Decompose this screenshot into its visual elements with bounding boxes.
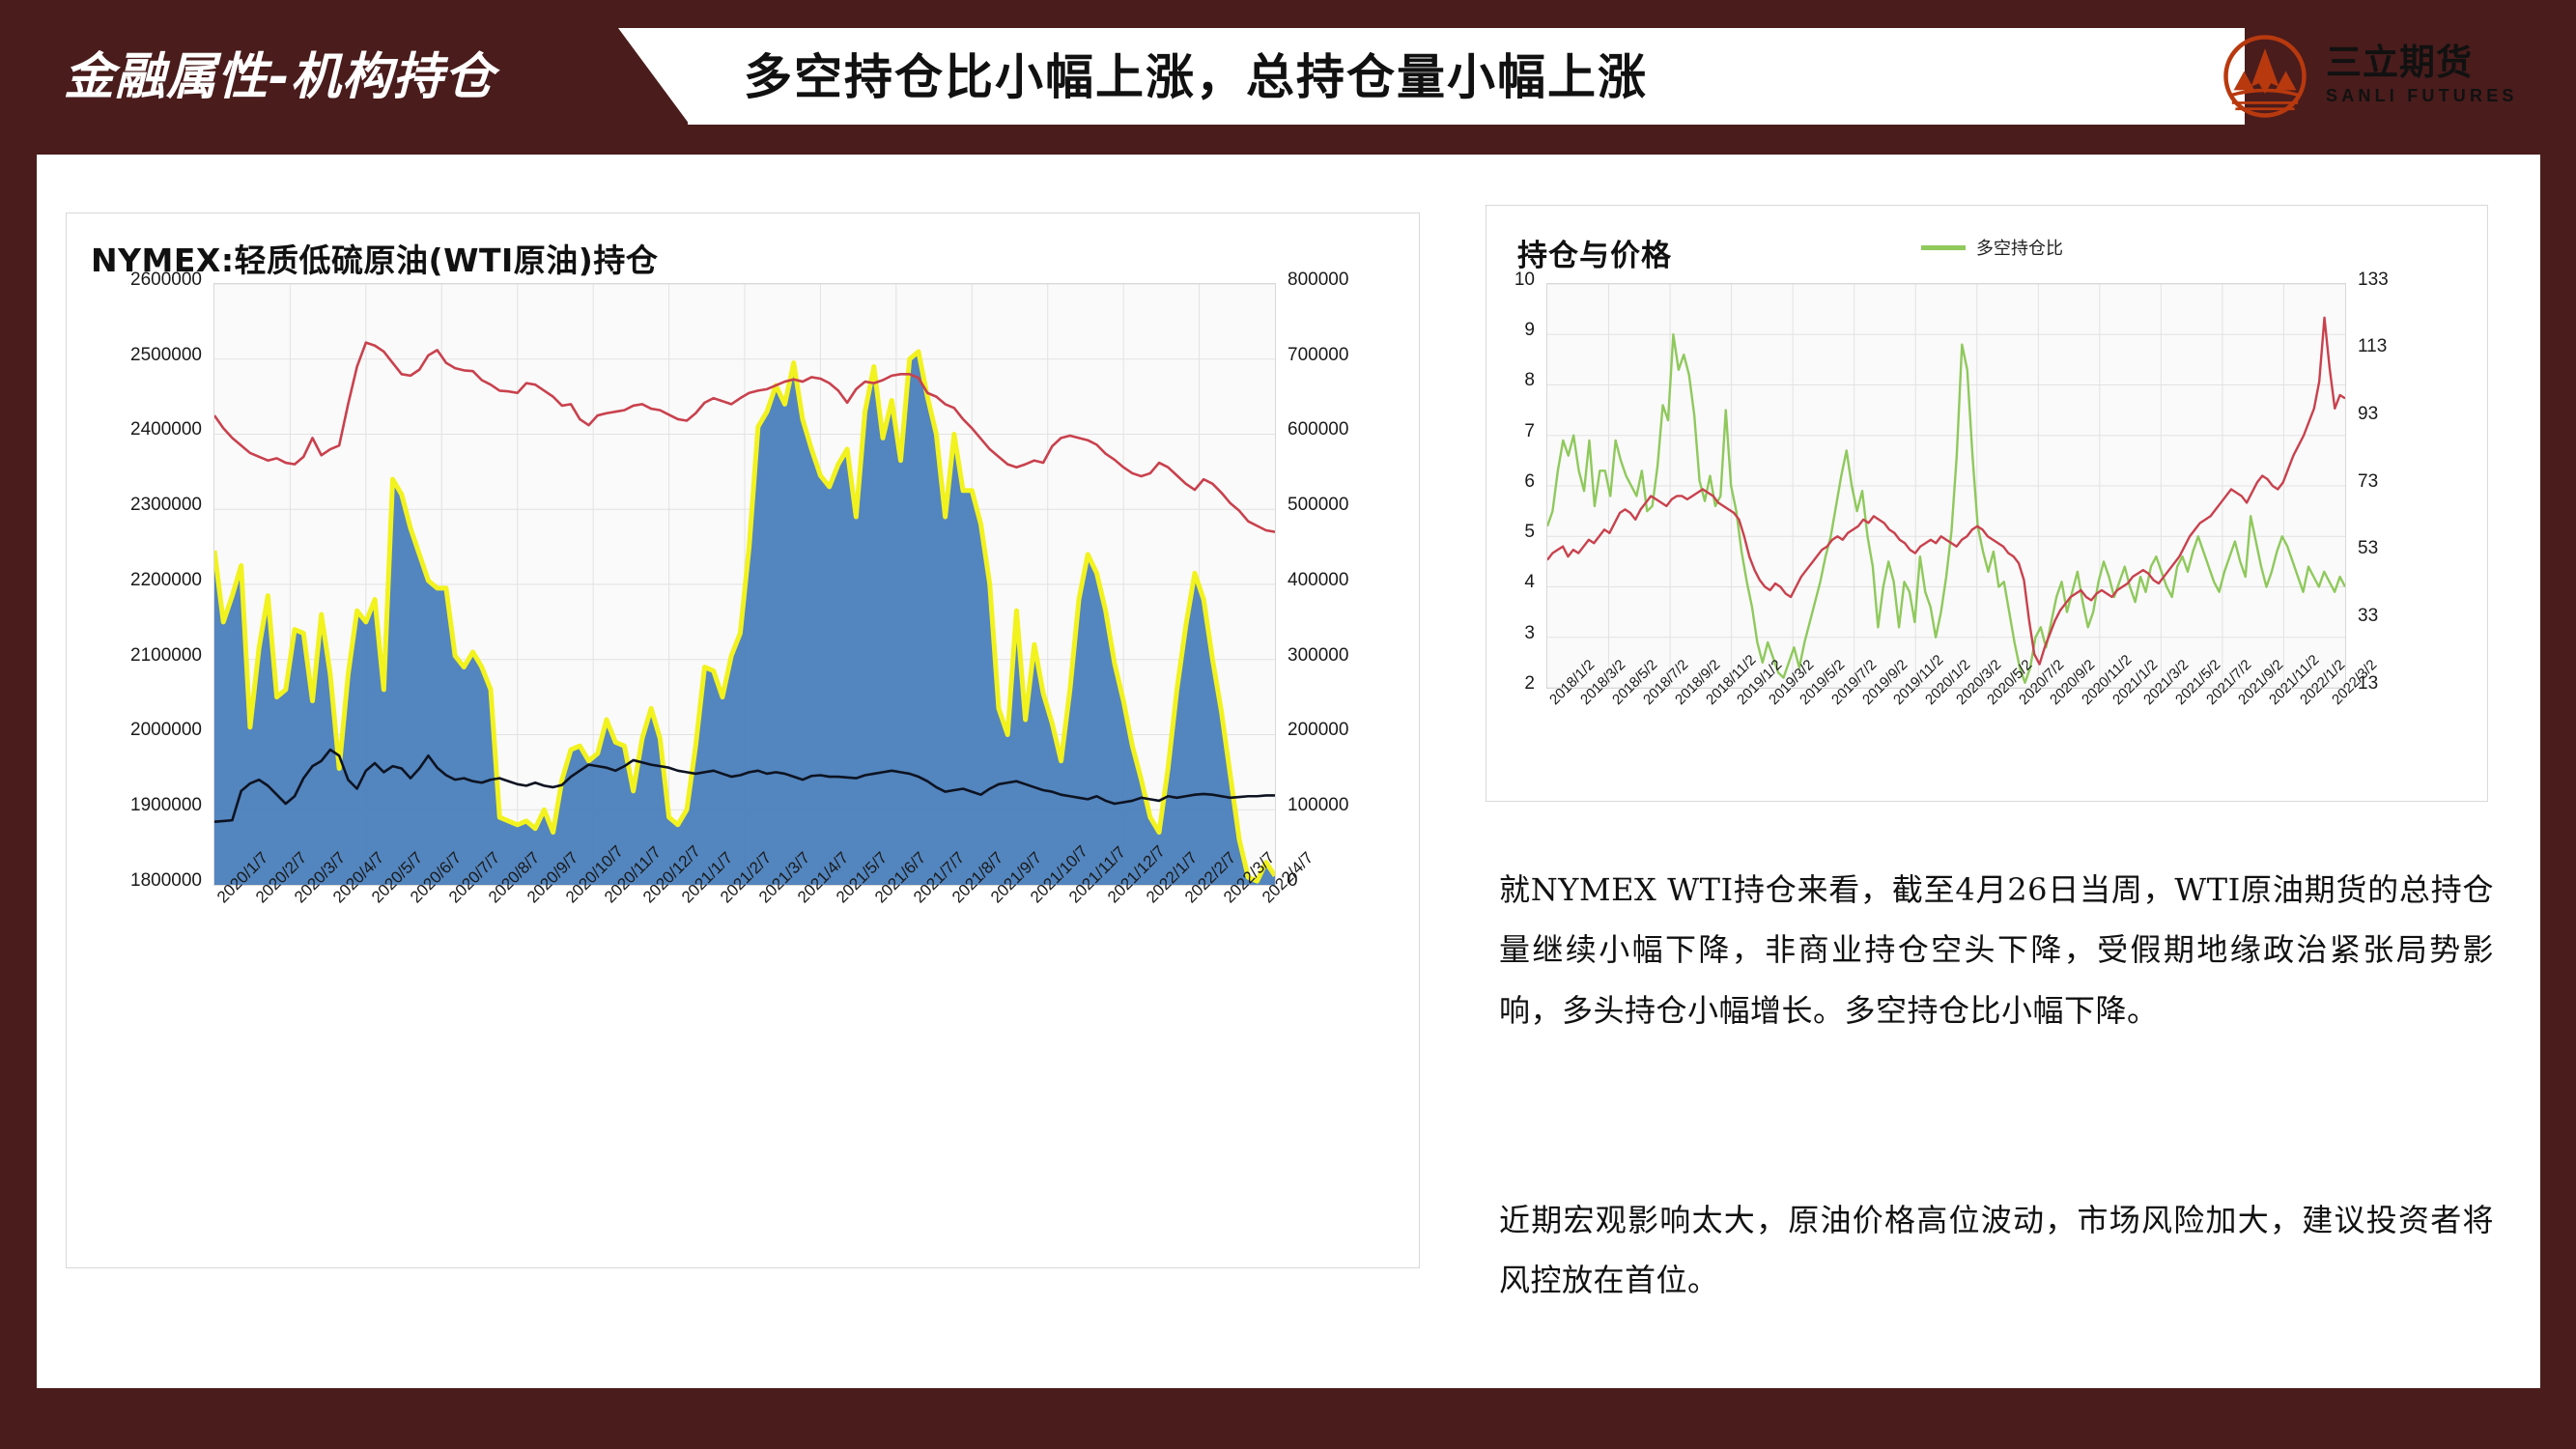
legend-label: 多空持仓比 bbox=[1976, 235, 2063, 260]
commentary-paragraph-2: 近期宏观影响太大，原油价格高位波动，市场风险加大，建议投资者将风控放在首位。 bbox=[1499, 1190, 2494, 1311]
slide-root: 金融属性-机构持仓 多空持仓比小幅上涨，总持仓量小幅上涨 三立期货 SANLI … bbox=[0, 0, 2576, 1449]
logo-text-block: 三立期货 SANLI FUTURES bbox=[2326, 44, 2518, 107]
axis-tick-label: 500000 bbox=[1288, 495, 1394, 516]
axis-tick-label: 2500000 bbox=[84, 345, 202, 366]
axis-tick-label: 33 bbox=[2358, 606, 2406, 627]
mountain-circle-logo-icon bbox=[2222, 33, 2308, 120]
axis-tick-label: 2300000 bbox=[84, 495, 202, 516]
axis-tick-label: 7 bbox=[1510, 421, 1535, 442]
axis-tick-label: 73 bbox=[2358, 471, 2406, 493]
axis-tick-label: 93 bbox=[2358, 404, 2406, 425]
axis-tick-label: 2100000 bbox=[84, 645, 202, 667]
logo-name-en: SANLI FUTURES bbox=[2326, 85, 2518, 107]
right-chart-title: 持仓与价格 bbox=[1517, 231, 1672, 274]
axis-tick-label: 10 bbox=[1510, 270, 1535, 291]
logo-name-cn: 三立期货 bbox=[2326, 44, 2518, 82]
axis-tick-label: 1900000 bbox=[84, 795, 202, 816]
page-title: 多空持仓比小幅上涨，总持仓量小幅上涨 bbox=[744, 39, 1648, 116]
axis-tick-label: 53 bbox=[2358, 538, 2406, 559]
axis-tick-label: 3 bbox=[1510, 623, 1535, 644]
axis-tick-label: 2400000 bbox=[84, 419, 202, 440]
axis-tick-label: 100000 bbox=[1288, 795, 1394, 816]
axis-tick-label: 2200000 bbox=[84, 570, 202, 591]
left-chart-panel: NYMEX:轻质低硫原油(WTI原油)持仓 总持仓 非商业多头持仓:持仓数量 非… bbox=[66, 213, 1420, 1268]
axis-tick-label: 1800000 bbox=[84, 870, 202, 892]
brand-logo: 三立期货 SANLI FUTURES bbox=[2222, 28, 2518, 125]
axis-tick-label: 4 bbox=[1510, 572, 1535, 593]
axis-tick-label: 6 bbox=[1510, 471, 1535, 493]
left-plot-area bbox=[213, 283, 1276, 886]
legend-item-long-short-ratio: 多空持仓比 bbox=[1921, 235, 2063, 260]
right-chart-panel: 持仓与价格 多空持仓比 期货收盘价(活跃合约):NYMEX轻质原油 234567… bbox=[1486, 205, 2488, 802]
axis-tick-label: 2600000 bbox=[84, 270, 202, 291]
axis-tick-label: 8 bbox=[1510, 370, 1535, 391]
axis-tick-label: 133 bbox=[2358, 270, 2406, 291]
axis-tick-label: 9 bbox=[1510, 320, 1535, 341]
axis-tick-label: 113 bbox=[2358, 336, 2406, 357]
axis-tick-label: 5 bbox=[1510, 522, 1535, 543]
section-tag: 金融属性-机构持仓 bbox=[64, 39, 643, 116]
right-plot-area bbox=[1546, 283, 2346, 689]
axis-tick-label: 400000 bbox=[1288, 570, 1394, 591]
commentary-paragraph-1: 就NYMEX WTI持仓来看，截至4月26日当周，WTI原油期货的总持仓量继续小… bbox=[1499, 860, 2494, 1040]
axis-tick-label: 700000 bbox=[1288, 345, 1394, 366]
axis-tick-label: 200000 bbox=[1288, 720, 1394, 741]
slide-header: 金融属性-机构持仓 多空持仓比小幅上涨，总持仓量小幅上涨 三立期货 SANLI … bbox=[0, 0, 2576, 155]
axis-tick-label: 2 bbox=[1510, 673, 1535, 695]
axis-tick-label: 300000 bbox=[1288, 645, 1394, 667]
axis-tick-label: 800000 bbox=[1288, 270, 1394, 291]
axis-tick-label: 2000000 bbox=[84, 720, 202, 741]
axis-tick-label: 600000 bbox=[1288, 419, 1394, 440]
legend-swatch-line-icon bbox=[1921, 245, 1966, 250]
